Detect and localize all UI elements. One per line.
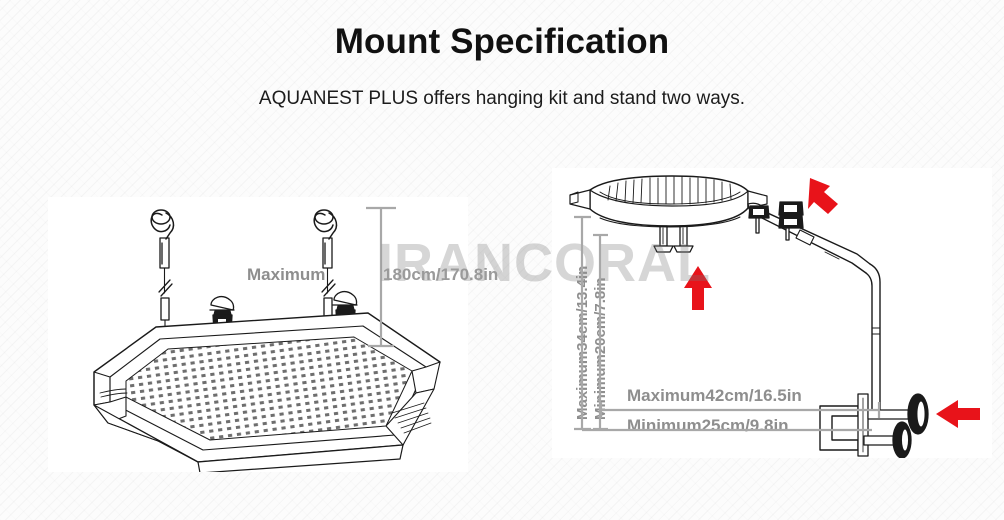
hanging-kit-illustration xyxy=(48,197,468,472)
right-dimension-horizontal-min: Minimum25cm/9.8in xyxy=(627,416,789,436)
led-fixture-small xyxy=(570,176,767,227)
led-fixture-body xyxy=(94,313,440,472)
arrow-left-icon xyxy=(936,400,980,428)
stand-vertical-pole xyxy=(866,264,880,416)
page-subtitle: AQUANEST PLUS offers hanging kit and sta… xyxy=(0,88,1004,110)
page-title: Mount Specification xyxy=(0,22,1004,62)
right-dimension-vertical-max: Maximum34cm/13.4in xyxy=(574,266,591,420)
left-dimension-label-word: Maximum xyxy=(247,265,325,285)
left-dimension-label-value: 180cm/170.8in xyxy=(383,265,498,285)
stand-mount-panel xyxy=(552,168,992,458)
right-dimension-horizontal-max: Maximum42cm/16.5in xyxy=(627,386,802,406)
right-dimension-vertical-min: Minimum20cm/7.8in xyxy=(592,277,609,420)
hanging-kit-panel xyxy=(48,197,468,472)
mount-screws-under-fixture xyxy=(654,226,693,252)
arrow-up-icon xyxy=(684,266,712,310)
arrow-down-icon xyxy=(808,178,838,214)
stand-mount-illustration xyxy=(552,168,992,458)
stand-c-clamp xyxy=(820,394,928,458)
